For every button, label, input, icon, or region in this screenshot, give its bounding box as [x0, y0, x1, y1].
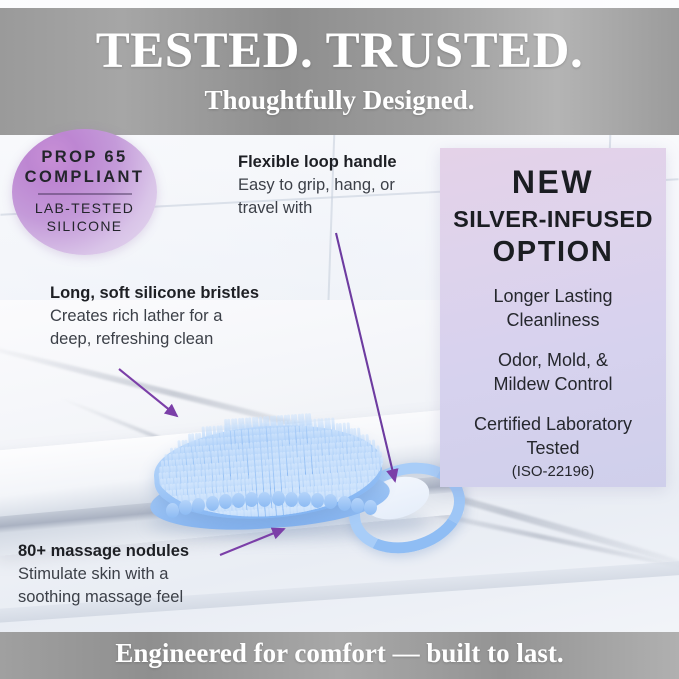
panel-new-label: NEW: [512, 165, 594, 200]
callout-title: Long, soft silicone bristles: [50, 283, 259, 305]
footer-tagline: Engineered for comfort — built to last.: [0, 638, 679, 669]
badge-line-silicone: SILICONE: [47, 218, 123, 236]
badge-line-compliant: COMPLIANT: [25, 168, 145, 187]
product-image-silicone-brush: [140, 378, 430, 548]
panel-benefit-line: Certified Laboratory: [474, 413, 632, 437]
callout-body-line: soothing massage feel: [18, 586, 189, 609]
callout-silicone-bristles: Long, soft silicone bristles Creates ric…: [50, 283, 259, 352]
panel-benefit-line: Cleanliness: [493, 309, 612, 333]
callout-title: Flexible loop handle: [238, 152, 397, 174]
infographic-canvas: TESTED. TRUSTED. Thoughtfully Designed. …: [0, 0, 679, 679]
panel-benefit: Longer Lasting Cleanliness: [493, 285, 612, 333]
callout-body-line: deep, refreshing clean: [50, 328, 259, 351]
callout-massage-nodules: 80+ massage nodules Stimulate skin with …: [18, 541, 189, 610]
silver-infused-panel: NEW SILVER-INFUSED OPTION Longer Lasting…: [440, 148, 666, 487]
panel-silver-infused-label: SILVER-INFUSED: [453, 205, 653, 234]
panel-benefit: Odor, Mold, & Mildew Control: [493, 349, 612, 397]
page-subtitle: Thoughtfully Designed.: [0, 85, 679, 116]
prop65-badge: PROP 65 COMPLIANT LAB-TESTED SILICONE: [12, 129, 157, 255]
callout-body-line: Easy to grip, hang, or: [238, 174, 397, 197]
callout-body-line: Stimulate skin with a: [18, 563, 189, 586]
badge-line-prop65: PROP 65: [41, 148, 127, 167]
panel-benefit-line: Odor, Mold, &: [493, 349, 612, 373]
panel-standard-label: (ISO-22196): [512, 462, 595, 482]
badge-line-lab-tested: LAB-TESTED: [35, 200, 134, 218]
panel-benefit-line: Longer Lasting: [493, 285, 612, 309]
panel-benefit-line: Mildew Control: [493, 373, 612, 397]
panel-option-label: OPTION: [493, 236, 614, 269]
panel-benefit-line: Tested: [474, 437, 632, 461]
badge-divider: [38, 193, 132, 194]
callout-flexible-loop-handle: Flexible loop handle Easy to grip, hang,…: [238, 152, 397, 221]
page-title: TESTED. TRUSTED.: [0, 22, 679, 80]
callout-title: 80+ massage nodules: [18, 541, 189, 563]
callout-body-line: Creates rich lather for a: [50, 305, 259, 328]
callout-body-line: travel with: [238, 197, 397, 220]
panel-benefit: Certified Laboratory Tested: [474, 413, 632, 461]
